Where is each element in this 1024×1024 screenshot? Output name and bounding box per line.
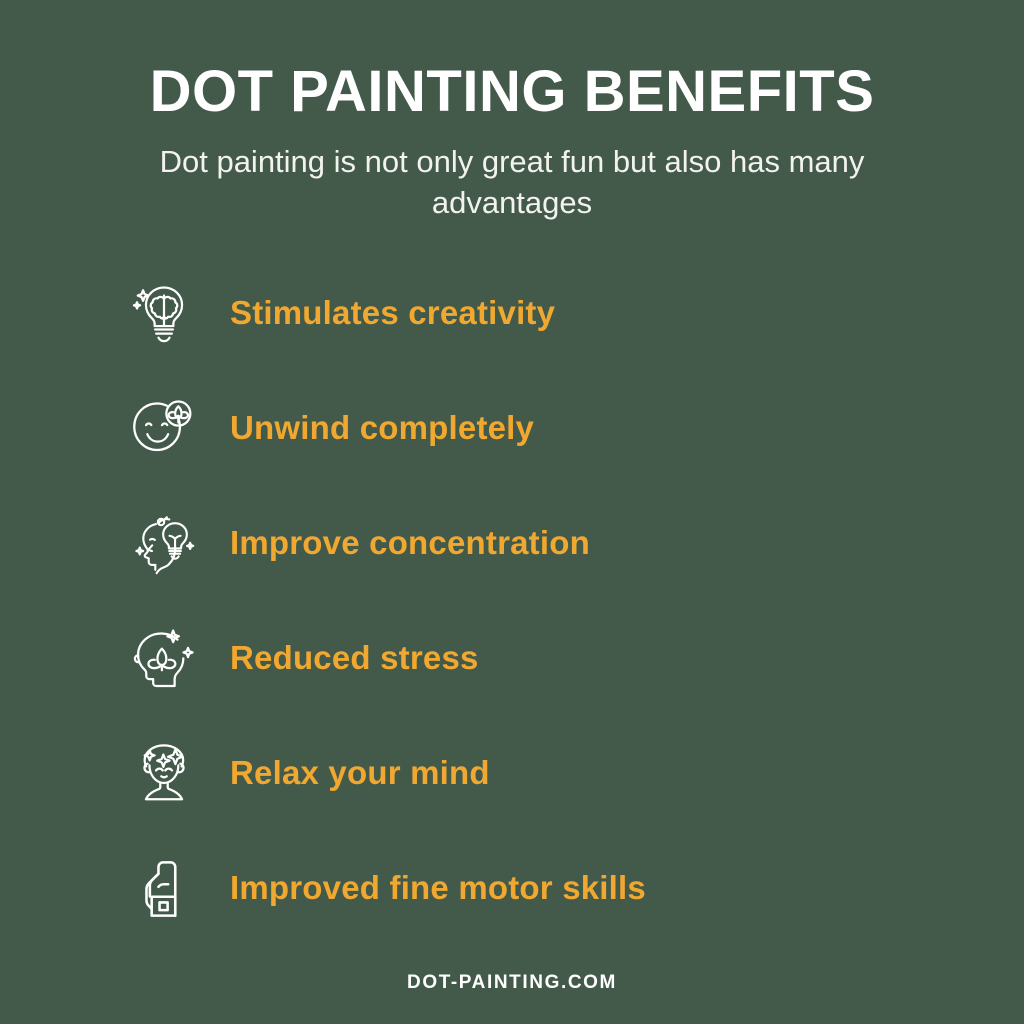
benefit-item: Improve concentration [128, 493, 590, 593]
poster-header: DOT PAINTING BENEFITS Dot painting is no… [0, 0, 1024, 223]
benefit-label: Relax your mind [230, 754, 490, 792]
smiling-face-flower-icon [128, 392, 200, 464]
benefit-item: Stimulates creativity [128, 263, 555, 363]
benefit-label: Improve concentration [230, 524, 590, 562]
benefits-list: Stimulates creativity Unwind completely [0, 263, 1024, 953]
benefit-label: Stimulates creativity [230, 294, 555, 332]
page-subtitle: Dot painting is not only great fun but a… [122, 141, 902, 223]
page-title: DOT PAINTING BENEFITS [0, 62, 1024, 123]
benefit-label: Improved fine motor skills [230, 869, 646, 907]
calm-face-stars-icon [128, 737, 200, 809]
benefit-item: Unwind completely [128, 378, 534, 478]
website-url: DOT-PAINTING.COM [407, 972, 617, 993]
poster-footer: DOT-PAINTING.COM [0, 972, 1024, 994]
head-profile-lightbulb-icon [128, 507, 200, 579]
benefit-item: Improved fine motor skills [128, 838, 646, 938]
hand-holding-block-icon [128, 852, 200, 924]
brain-lightbulb-icon [128, 277, 200, 349]
poster-canvas: DOT PAINTING BENEFITS Dot painting is no… [0, 0, 1024, 1024]
benefit-item: Reduced stress [128, 608, 479, 708]
benefit-item: Relax your mind [128, 723, 490, 823]
head-lotus-sparkle-icon [128, 622, 200, 694]
benefit-label: Reduced stress [230, 639, 479, 677]
benefit-label: Unwind completely [230, 409, 534, 447]
